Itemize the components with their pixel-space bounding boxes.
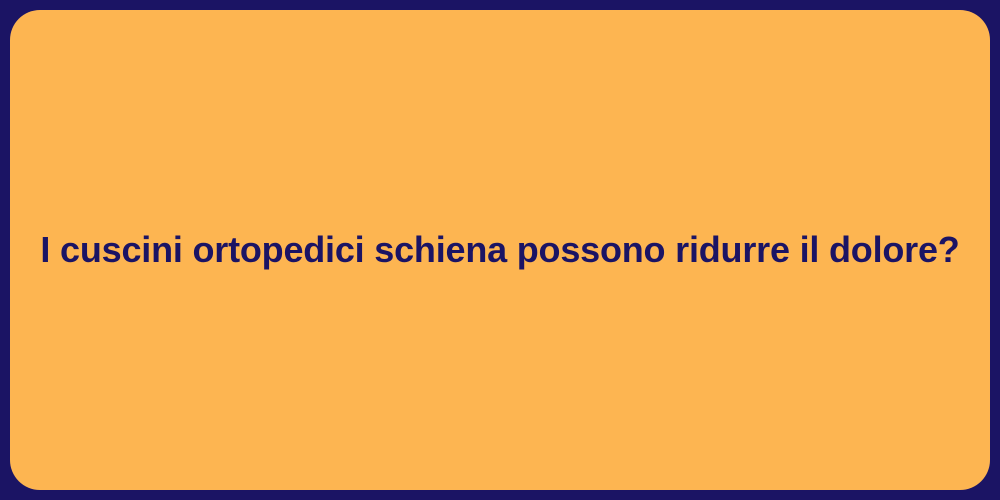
card-panel: I cuscini ortopedici schiena possono rid… [10,10,990,490]
card-frame: I cuscini ortopedici schiena possono rid… [0,0,1000,500]
headline-text: I cuscini ortopedici schiena possono rid… [10,229,990,270]
